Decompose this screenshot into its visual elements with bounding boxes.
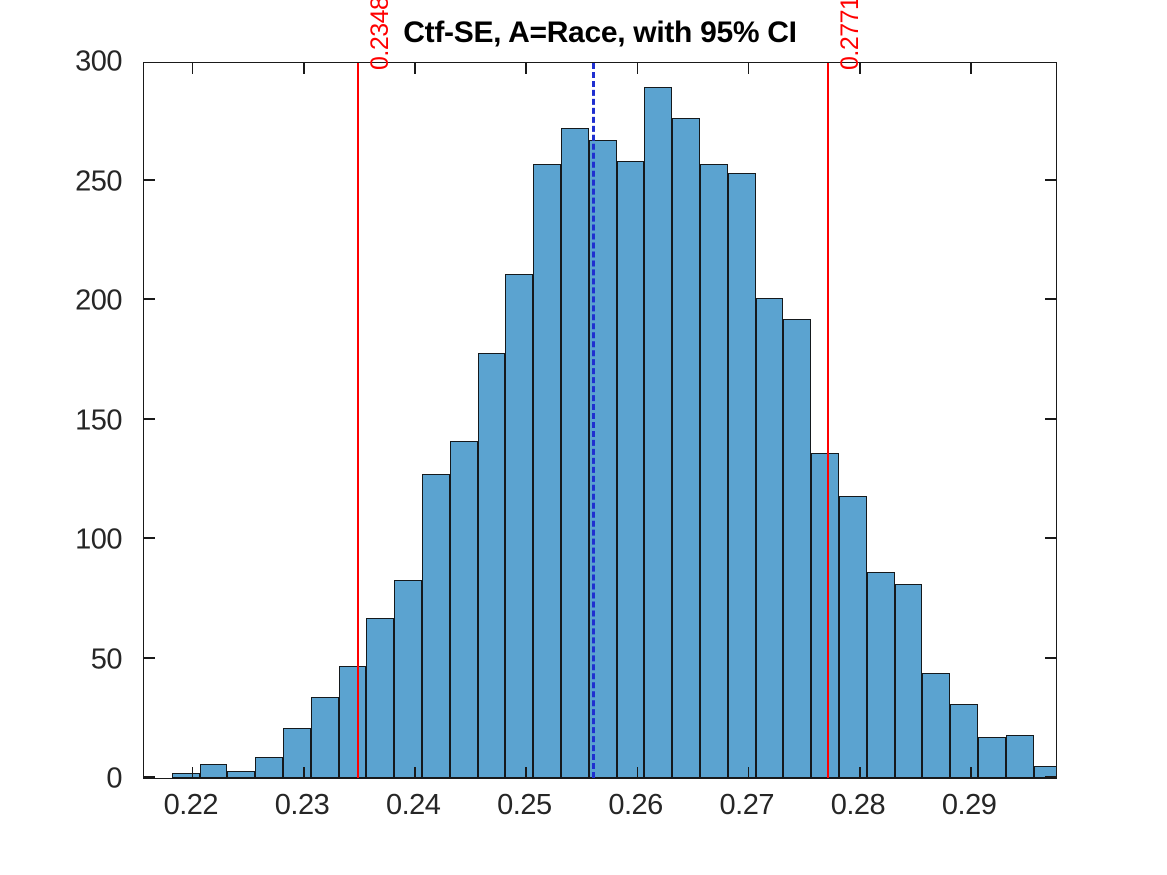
y-tick-label: 300: [0, 46, 122, 79]
y-tick-mark: [144, 179, 155, 181]
x-tick-mark: [525, 767, 527, 778]
ci-lower-line: [357, 63, 359, 778]
histogram-figure: Ctf-SE, A=Race, with 95% CI 0.220.230.24…: [0, 0, 1167, 875]
x-tick-label: 0.29: [942, 789, 996, 822]
point-estimate-line: [592, 63, 595, 778]
y-tick-mark: [1045, 657, 1056, 659]
x-tick-label: 0.22: [164, 789, 218, 822]
y-tick-label: 150: [0, 404, 122, 437]
x-tick-mark: [637, 767, 639, 778]
y-tick-label: 0: [0, 763, 122, 796]
x-tick-mark: [970, 767, 972, 778]
x-tick-mark: [859, 767, 861, 778]
y-tick-mark: [144, 418, 155, 420]
y-tick-label: 100: [0, 524, 122, 557]
y-tick-mark: [144, 776, 155, 778]
x-tick-label: 0.26: [608, 789, 662, 822]
y-tick-mark: [144, 657, 155, 659]
y-tick-label: 250: [0, 165, 122, 198]
ci-upper-label: 0.277117: [836, 0, 865, 70]
ci-upper-line: [827, 63, 829, 778]
x-tick-mark: [303, 767, 305, 778]
x-tick-mark: [414, 63, 416, 74]
y-tick-label: 200: [0, 285, 122, 318]
x-tick-mark: [748, 63, 750, 74]
x-tick-mark: [414, 767, 416, 778]
y-tick-mark: [1045, 537, 1056, 539]
x-tick-label: 0.24: [386, 789, 440, 822]
y-tick-mark: [1045, 179, 1056, 181]
x-tick-mark: [192, 63, 194, 74]
x-tick-label: 0.23: [275, 789, 329, 822]
x-tick-mark: [748, 767, 750, 778]
x-tick-mark: [637, 63, 639, 74]
x-tick-label: 0.28: [831, 789, 885, 822]
plot-area: [143, 62, 1057, 779]
y-tick-mark: [1045, 298, 1056, 300]
y-tick-mark: [144, 298, 155, 300]
y-tick-mark: [1045, 776, 1056, 778]
x-tick-mark: [192, 767, 194, 778]
y-tick-mark: [1045, 418, 1056, 420]
x-tick-label: 0.27: [720, 789, 774, 822]
x-tick-mark: [525, 63, 527, 74]
x-tick-mark: [303, 63, 305, 74]
x-tick-mark: [970, 63, 972, 74]
reference-lines-layer: [144, 63, 1056, 778]
chart-title: Ctf-SE, A=Race, with 95% CI: [143, 16, 1057, 50]
y-tick-label: 50: [0, 643, 122, 676]
x-tick-label: 0.25: [497, 789, 551, 822]
ci-lower-label: 0.234875: [366, 0, 395, 70]
y-tick-mark: [144, 537, 155, 539]
